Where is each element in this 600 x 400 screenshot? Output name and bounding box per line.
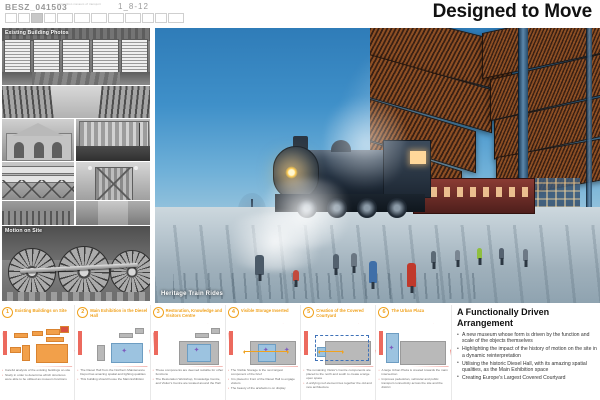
figure-person [523,249,528,261]
figure-person [351,253,357,267]
panel-title: Main Exhibition in the Diesel Hall [90,307,147,318]
index-box [142,13,154,23]
index-box [44,13,56,23]
diagram-shape [32,331,43,336]
photo-detail [33,39,60,73]
photo-detail [4,39,31,73]
star-marker: ✦ [388,345,394,352]
figure-person [499,248,504,259]
panel-header: 3 Restoration, Knowledge and Visitors Ce… [153,307,223,318]
locomotive-headlight [285,166,298,179]
panel-1: 1 Existing Buildings on Site Careful ana… [0,305,75,400]
photo-detail [2,86,54,118]
sheet-index-boxes [5,13,184,23]
panel-title: Existing Buildings on Site [15,307,67,313]
photo-detail [98,86,150,118]
photo-detail [34,142,44,158]
concept-bullet: Highlighting the impact of the history o… [457,346,597,359]
figure-person [455,250,460,261]
figure-person [477,248,482,259]
figure-person [333,254,339,269]
render-detail [357,198,377,218]
panel-2: 2 Main Exhibition in the Diesel Hall ✦ T… [75,305,150,400]
panel-diagram: ✦ [378,321,449,367]
competition-subtitle: competition museum of transport [57,3,105,6]
diagram-shape [195,333,209,338]
diagram-shape [304,331,308,355]
bullet: Improves pedestrian, vehicular and publi… [378,378,449,390]
bullet: This building should house the Main Exhi… [77,378,148,382]
render-detail [387,198,407,218]
photo-detail [88,166,92,170]
bullet: It is placed in front of the Diesel Hall… [228,378,299,386]
panel-number: 4 [228,307,239,318]
panel-bullets: A large Urban Plaza is created towards t… [378,369,449,391]
diagram-shape [135,328,144,334]
photo-rail-tracks [2,201,74,225]
diagram-shape [119,333,133,338]
concept-bullet: Utilising the historic Diesel Hall, with… [457,361,597,374]
panel-diagram [2,321,73,367]
panel-bullets: The remaining Visitor's Centre component… [303,369,374,391]
diagram-shape [46,337,64,342]
photo-locomotive-wheels: Motion on Site [2,226,150,301]
page-number: 1_8-12 [118,2,149,11]
panel-number: 1 [2,307,13,318]
concept-statement: A Functionally Driven Arrangement A new … [455,305,597,400]
main-rendering: Heritage Train Rides [155,28,600,303]
panel-header: 1 Existing Buildings on Site [2,307,72,318]
photo-detail [134,166,138,170]
index-box [108,13,124,23]
diagram-shape [46,329,60,335]
photo-detail [111,251,150,293]
index-box [57,13,73,23]
diagram-shape [36,344,68,363]
concept-bullet: Creating Europe's Largest Covered Courty… [457,375,597,381]
photo-detail [59,247,109,297]
panel-number: 2 [77,307,88,318]
panel-header: 5 Creation of the Covered Courtyard [303,307,373,318]
panel-number: 3 [153,307,164,318]
photo-detail [92,39,119,73]
diagram-shape [97,345,105,361]
panel-6: 6 The Urban Plaza ✦ A large Urban Plaza … [376,305,451,400]
index-box [91,13,107,23]
panel-bullets: The Visible Storage is the next largest … [228,369,299,392]
figure-person [293,270,299,281]
figure-person [255,255,264,275]
figure-person [369,261,377,283]
star-marker: ✦ [121,348,127,355]
photo-detail [2,166,74,174]
diagram-shape [14,333,28,338]
panel-diagram: ✦ [153,321,224,367]
concept-bullet: A new museum whose form is driven by the… [457,332,597,345]
panel-bullets: The Diesel Hall from the Northern Mainte… [77,369,148,383]
panel-diagram: ✦ [77,321,148,367]
photo-detail [2,39,150,73]
photo-canopy-structure [2,162,74,200]
diagram-shape [229,331,233,355]
panel-header: 2 Main Exhibition in the Diesel Hall [77,307,147,318]
photo-detail [12,123,64,136]
index-box [155,13,167,23]
render-caption: Heritage Train Rides [161,291,223,297]
bullet: The Diesel Hall from the Northern Mainte… [77,369,148,377]
photo-depot-gate [76,162,150,200]
index-box [5,13,17,23]
photo-detail [2,292,150,301]
star-marker: ✦ [194,347,200,354]
bullet: The beauty of the artefacts is on displa… [228,387,299,391]
movement-arrow [244,351,288,352]
panel-header: 6 The Urban Plaza [378,307,448,318]
diagram-shape [60,326,69,333]
photo-detail [76,146,150,161]
diagram-shape [379,331,383,355]
panel-title: Visible Storage Inserted [241,307,289,313]
index-box [74,13,90,23]
panel-title: Restoration, Knowledge and Visitors Cent… [166,307,223,318]
panel-5: 5 Creation of the Covered Courtyard The … [301,305,376,400]
photo-platform-view [2,86,150,118]
photo-detail [14,142,24,158]
diagram-shape [78,331,82,355]
index-box [168,13,184,23]
diagram-shape [22,345,30,361]
panel-4: 4 Visible Storage Inserted ✦ ✦ The Visib… [226,305,301,400]
photo-detail [95,167,133,200]
photo-detail [52,142,62,158]
bullet: These components are deemed suitable for… [153,369,224,377]
photo-detail [110,250,150,294]
photo-detail [2,72,150,85]
diagram-shape [3,331,7,355]
concept-heading: A Functionally Driven Arrangement [457,307,597,328]
panel-bullets: These components are deemed suitable for… [153,369,224,387]
photo-interior-hall: Existing Building Photos [2,28,150,85]
bullet: The Visible Storage is the next largest … [228,369,299,377]
movement-arrow [319,351,343,352]
index-box [125,13,141,23]
diagram-shape [211,328,220,334]
concept-bullet-list: A new museum whose form is driven by the… [457,332,597,381]
photo-detail [51,86,101,118]
panel-number: 5 [303,307,314,318]
motion-on-site-label: Motion on Site [5,228,42,234]
photo-block-building [76,119,150,161]
panel-title: The Urban Plaza [391,307,424,313]
index-box [18,13,30,23]
heritage-coach [413,178,535,214]
bullet: The Restoration Workshop, Knowledge Cent… [153,378,224,386]
presentation-board: BESZ_041503 competition museum of transp… [0,0,600,400]
bullet: Study in order to determine which struct… [2,374,73,382]
figure-person [431,251,436,263]
panel-diagram: ✦ ✦ [228,321,299,367]
photo-historic-facade [2,119,74,161]
panel-title: Creation of the Covered Courtyard [316,307,373,318]
index-box-active [31,13,43,23]
diagram-shape [10,347,21,353]
concept-diagram-panels: 1 Existing Buildings on Site Careful ana… [0,305,452,400]
bullet: A large Urban Plaza is created towards t… [378,369,449,377]
bullet: A unifying roof element ties together th… [303,382,374,390]
existing-photos-label: Existing Building Photos [5,30,69,36]
render-detail [215,213,335,271]
panel-3: 3 Restoration, Knowledge and Visitors Ce… [151,305,226,400]
photo-site-ground [76,201,150,225]
left-photo-column: Existing Building Photos [0,27,152,303]
board-title: Designed to Move [433,1,592,23]
panel-bullets: Careful analysis of the existing buildin… [2,369,73,383]
diagram-shape [400,341,446,365]
board-header: BESZ_041503 competition museum of transp… [0,0,600,27]
photo-detail [2,180,74,198]
figure-person [407,263,416,287]
bullet: The remaining Visitor's Centre component… [303,369,374,381]
panel-diagram [303,321,374,367]
photo-detail [58,246,110,298]
photo-detail [121,39,148,73]
panel-number: 6 [378,307,389,318]
render-detail [325,88,405,198]
render-detail [410,151,426,164]
main-exhibition-volume [111,343,143,363]
panel-header: 4 Visible Storage Inserted [228,307,298,318]
diagram-shape [154,331,158,355]
photo-detail [62,39,89,73]
